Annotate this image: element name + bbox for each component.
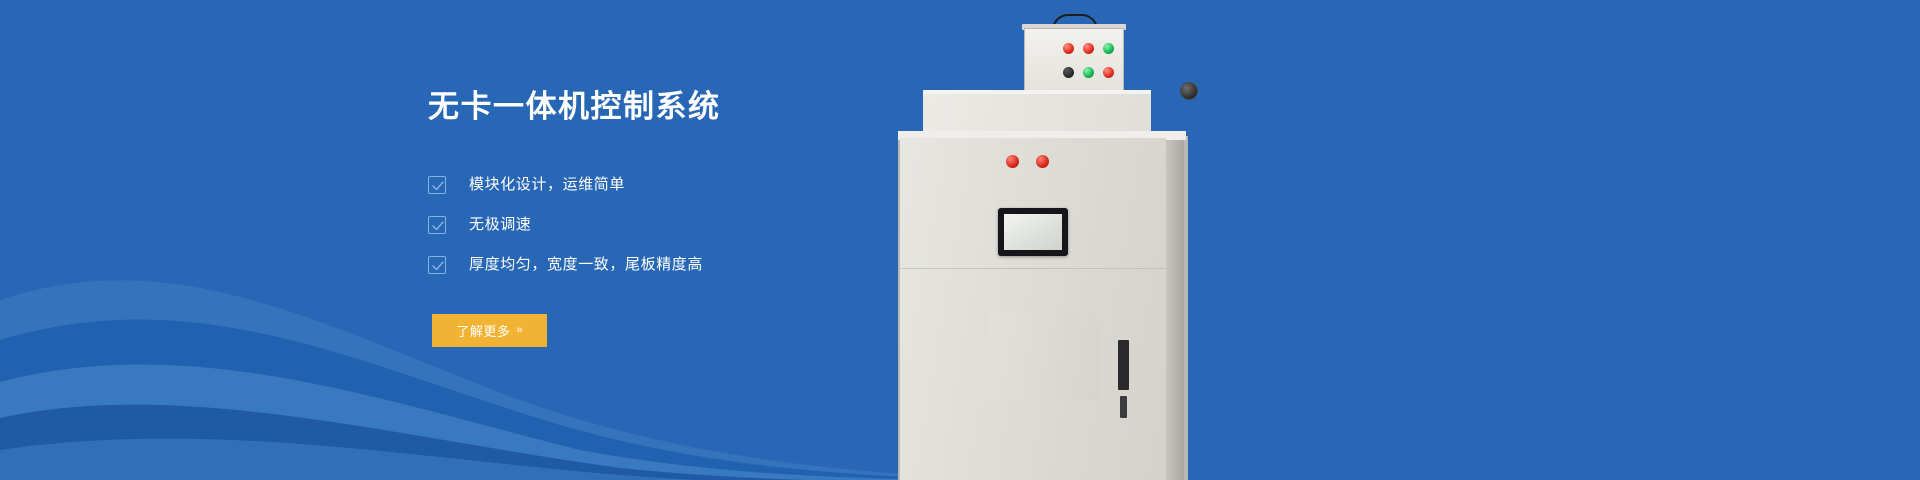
indicator-lamp-green[interactable] bbox=[1083, 67, 1094, 78]
control-box bbox=[1024, 28, 1124, 93]
indicator-lamp-green[interactable] bbox=[1103, 43, 1114, 54]
hero-banner: 无卡一体机控制系统 模块化设计，运维简单 无极调速 bbox=[0, 0, 1920, 480]
learn-more-label: 了解更多 bbox=[456, 321, 510, 340]
indicator-lamp-red[interactable] bbox=[1063, 43, 1074, 54]
front-indicator-lamp[interactable] bbox=[1006, 155, 1019, 168]
check-icon bbox=[428, 256, 446, 274]
feature-label: 厚度均匀，宽度一致，尾板精度高 bbox=[469, 255, 703, 275]
cabinet-front bbox=[900, 138, 1166, 480]
machine-photo bbox=[880, 0, 1200, 480]
indicator-lamp-red[interactable] bbox=[1083, 43, 1094, 54]
feature-label: 模块化设计，运维简单 bbox=[469, 175, 625, 195]
cabinet-riser bbox=[923, 94, 1151, 134]
front-indicator-lamp[interactable] bbox=[1036, 155, 1049, 168]
check-icon bbox=[428, 176, 446, 194]
rotary-knob-icon[interactable] bbox=[1180, 82, 1198, 100]
screen-glass bbox=[1004, 214, 1062, 250]
learn-more-button[interactable]: 了解更多 » bbox=[432, 314, 547, 347]
indicator-lamp-red[interactable] bbox=[1103, 67, 1114, 78]
cabinet-side bbox=[1166, 140, 1184, 480]
touchscreen-display[interactable] bbox=[998, 208, 1068, 256]
door-lock[interactable] bbox=[1120, 396, 1127, 418]
panel-inset bbox=[988, 310, 1100, 400]
feature-label: 无极调速 bbox=[469, 215, 531, 235]
door-handle[interactable] bbox=[1118, 340, 1129, 390]
check-icon bbox=[428, 216, 446, 234]
indicator-lamp-dark[interactable] bbox=[1063, 67, 1074, 78]
cabinet-seam bbox=[900, 268, 1166, 269]
chevron-right-icon: » bbox=[516, 325, 522, 336]
